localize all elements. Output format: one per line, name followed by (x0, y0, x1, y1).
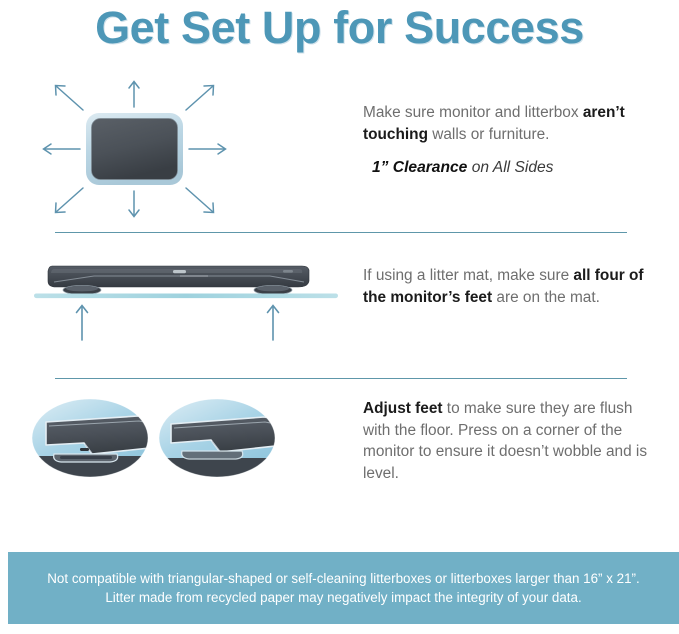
section-adjust-feet: Adjust feet to make sure they are flush … (0, 388, 679, 538)
illustration-litter-mat (30, 240, 350, 375)
page-title: Get Set Up for Success (0, 2, 679, 54)
illustration-adjust-feet (30, 388, 350, 538)
banner-line-2: Litter made from recycled paper may nega… (105, 588, 581, 607)
copy-clearance: Make sure monitor and litterbox aren’t t… (363, 102, 663, 179)
copy-bold: Adjust feet (363, 400, 443, 417)
infographic-page: Get Set Up for Success (0, 0, 679, 634)
copy-tail: walls or furniture. (428, 126, 549, 143)
banner-line-1: Not compatible with triangular-shaped or… (47, 569, 639, 588)
section-litter-mat: If using a litter mat, make sure all fou… (0, 240, 679, 375)
monitor-top-view-icon (30, 72, 350, 227)
clearance-callout: 1” Clearance on All Sides (372, 157, 663, 179)
copy-adjust-feet: Adjust feet to make sure they are flush … (363, 398, 663, 484)
copy-lead: Make sure monitor and litterbox (363, 104, 583, 121)
monitor-side-view-icon (30, 240, 350, 375)
section-clearance: Make sure monitor and litterbox aren’t t… (0, 72, 679, 227)
oval-insets-icon (30, 388, 350, 498)
compatibility-banner: Not compatible with triangular-shaped or… (8, 552, 679, 624)
copy-litter-mat: If using a litter mat, make sure all fou… (363, 265, 663, 308)
section-divider-1 (55, 232, 627, 233)
illustration-clearance (30, 72, 350, 227)
copy-lead: If using a litter mat, make sure (363, 267, 573, 284)
clearance-callout-bold: 1” Clearance (372, 159, 467, 176)
copy-tail: are on the mat. (492, 289, 600, 306)
section-divider-2 (55, 378, 627, 379)
clearance-callout-rest: on All Sides (467, 159, 553, 176)
